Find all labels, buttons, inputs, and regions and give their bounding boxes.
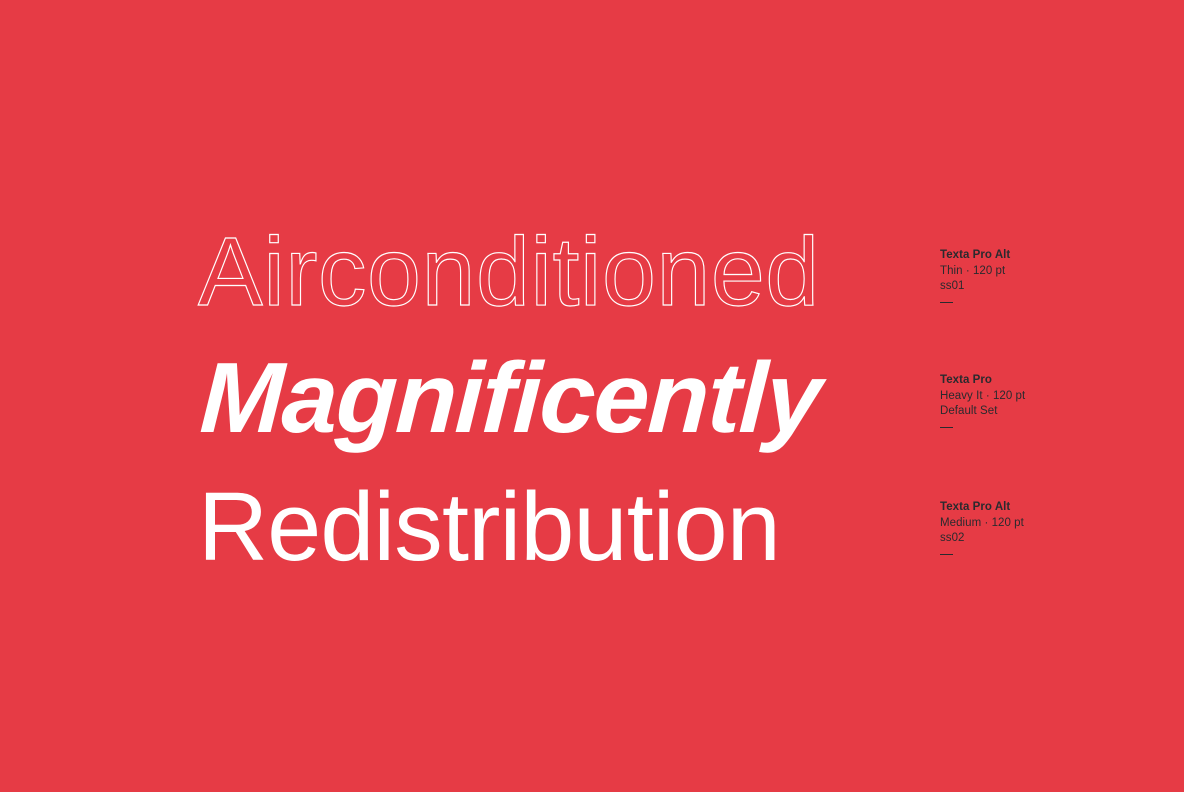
annotation-weight-size: Medium · 120 pt <box>940 516 1120 532</box>
annotation-block-3: Texta Pro Alt Medium · 120 pt ss02 <box>940 500 1120 555</box>
annotation-divider-rule <box>940 554 953 556</box>
annotation-family-name: Texta Pro <box>940 373 1120 389</box>
annotation-stylistic-set: ss01 <box>940 279 1120 295</box>
specimen-line-magnificently: Magnificently <box>198 348 823 448</box>
annotation-family-name: Texta Pro Alt <box>940 500 1120 516</box>
annotation-family-name: Texta Pro Alt <box>940 248 1120 264</box>
specimen-stack: Airconditioned Magnificently Redistribut… <box>0 0 930 792</box>
annotation-weight-size: Heavy It · 120 pt <box>940 389 1120 405</box>
annotation-block-1: Texta Pro Alt Thin · 120 pt ss01 <box>940 248 1120 303</box>
annotation-column: Texta Pro Alt Thin · 120 pt ss01 Texta P… <box>940 0 1120 792</box>
specimen-line-airconditioned: Airconditioned <box>198 223 820 320</box>
annotation-divider-rule <box>940 427 953 429</box>
specimen-line-redistribution: Redistribution <box>198 478 780 575</box>
annotation-stylistic-set: ss02 <box>940 531 1120 547</box>
font-specimen-poster: Airconditioned Magnificently Redistribut… <box>0 0 1184 792</box>
annotation-stylistic-set: Default Set <box>940 404 1120 420</box>
annotation-divider-rule <box>940 302 953 304</box>
annotation-block-2: Texta Pro Heavy It · 120 pt Default Set <box>940 373 1120 428</box>
annotation-weight-size: Thin · 120 pt <box>940 264 1120 280</box>
